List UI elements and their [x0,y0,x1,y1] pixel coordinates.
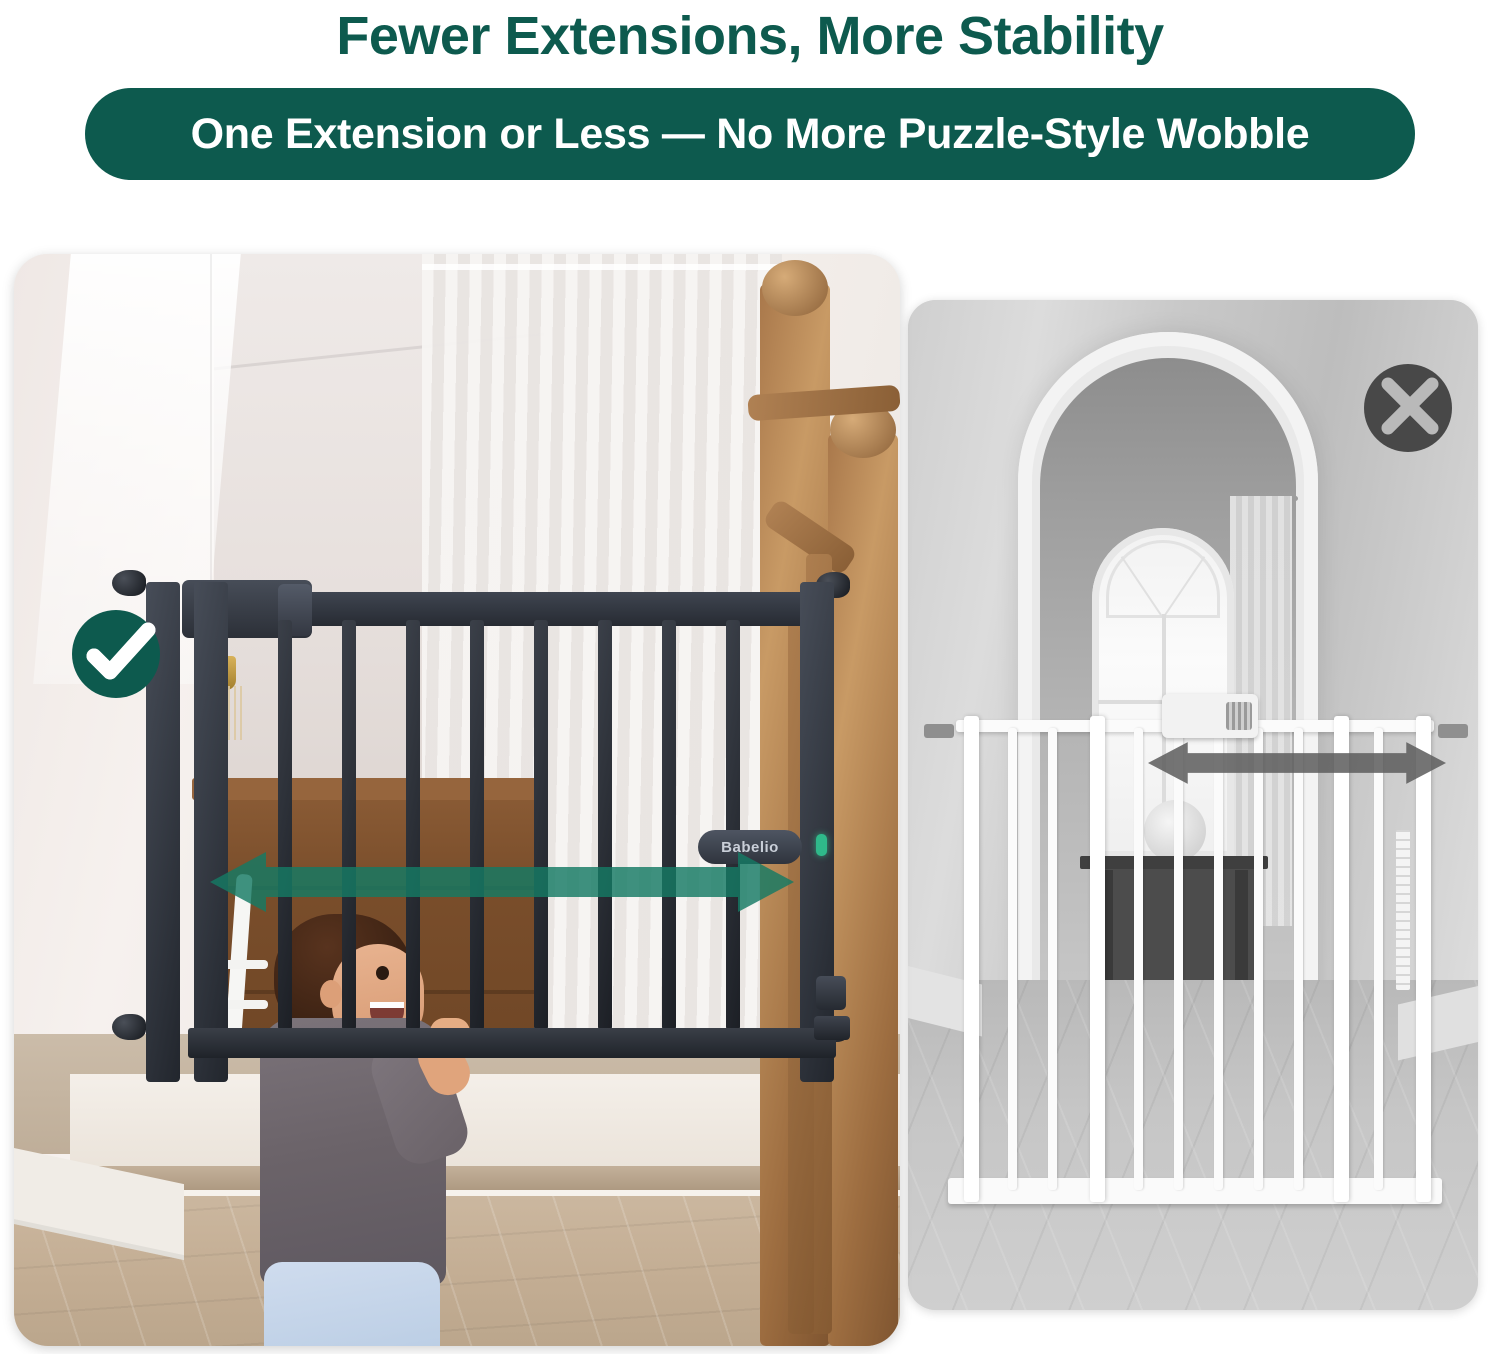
bad-gate-post [964,716,979,1202]
gate-bar [726,620,740,1030]
gate-bar [342,620,356,1030]
gate-bottom-rail [188,1028,836,1058]
bad-safety-gate [930,720,1462,1232]
gate-status-led [816,834,827,856]
gate-bar [598,620,612,1030]
gate-frame-post [194,582,228,1082]
bad-gate-bar [1134,728,1143,1190]
good-example-photo: Babelio [14,254,900,1346]
page-title: Fewer Extensions, More Stability [0,6,1500,66]
gate-stop-block [816,976,846,1010]
bad-gate-pressure-knob [1438,724,1468,738]
bad-gate-bar [1174,728,1183,1190]
bad-gate-bar [1374,728,1383,1190]
bad-gate-bar [1048,728,1057,1190]
check-circle-icon [64,602,168,706]
bad-example-photo [908,300,1478,1310]
bad-gate-post [1416,716,1431,1202]
subtitle-banner: One Extension or Less — No More Puzzle-S… [85,88,1415,180]
subtitle-banner-wrap: One Extension or Less — No More Puzzle-S… [0,88,1500,180]
x-circle-icon [1358,358,1458,458]
gate-bar [406,620,420,1030]
bad-gate-label-strip [1396,830,1410,990]
bad-gate-bar [1008,728,1017,1190]
gate-bar [662,620,676,1030]
gate-pressure-knob [112,1014,146,1040]
good-curtain-top [422,264,782,270]
bad-width-arrow [1148,740,1446,786]
bad-gate-extension-joint [1090,716,1105,1202]
header: Fewer Extensions, More Stability One Ext… [0,0,1500,180]
gate-bar [470,620,484,1030]
bad-gate-bar [1254,728,1263,1190]
bad-gate-bottom-rail [948,1178,1442,1204]
comparison-stage: Babelio [0,248,1500,1354]
bad-gate-bar [1214,728,1223,1190]
toddler-shorts [264,1262,440,1346]
bad-gate-pressure-knob [924,724,954,738]
good-safety-gate: Babelio [110,576,846,1086]
gate-stop-block [814,1016,850,1040]
gate-pressure-knob [112,570,146,596]
good-width-arrow [210,850,794,914]
gate-bar [534,620,548,1030]
banister-newel-cap [762,260,828,316]
gate-bar [278,620,292,1030]
bad-gate-bar [1294,728,1303,1190]
bad-gate-latch [1162,694,1258,738]
bad-gate-extension-joint [1334,716,1349,1202]
bad-window-fanlight [1106,540,1220,618]
